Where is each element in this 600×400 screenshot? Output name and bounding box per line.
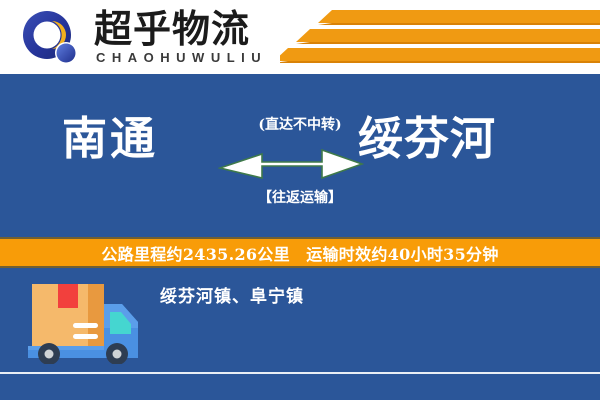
destination-city-label: 绥芬河 (358, 114, 496, 164)
orange-speed-stripes-icon (280, 8, 600, 70)
poster-header: 超乎物流 CHAOHUWULIU (0, 0, 600, 74)
origin-city-label: 南通 (62, 114, 158, 164)
logistics-route-poster: 超乎物流 CHAOHUWULIU 南通 (直达不中转) 【往返运输】 绥芬河 (0, 0, 600, 400)
coverage-panel: 绥芬河镇、阜宁镇 (0, 268, 600, 400)
round-trip-note: 【往返运输】 (238, 187, 362, 207)
circle-crescent-logo-icon (22, 10, 78, 66)
coverage-towns-label: 绥芬河镇、阜宁镇 (160, 282, 304, 307)
route-panel: 南通 (直达不中转) 【往返运输】 绥芬河 (0, 74, 600, 237)
double-headed-arrow-icon (218, 148, 364, 182)
divider-line (0, 372, 600, 374)
brand-name-chinese: 超乎物流 (94, 8, 250, 50)
brand-name-pinyin: CHAOHUWULIU (96, 50, 267, 65)
distance-duration-band: 公路里程约2435.26公里 运输时效约40小时35分钟 (0, 237, 600, 268)
distance-duration-text: 公路里程约2435.26公里 运输时效约40小时35分钟 (101, 241, 498, 265)
delivery-truck-icon (26, 276, 148, 364)
direct-route-note: (直达不中转) (244, 114, 356, 134)
